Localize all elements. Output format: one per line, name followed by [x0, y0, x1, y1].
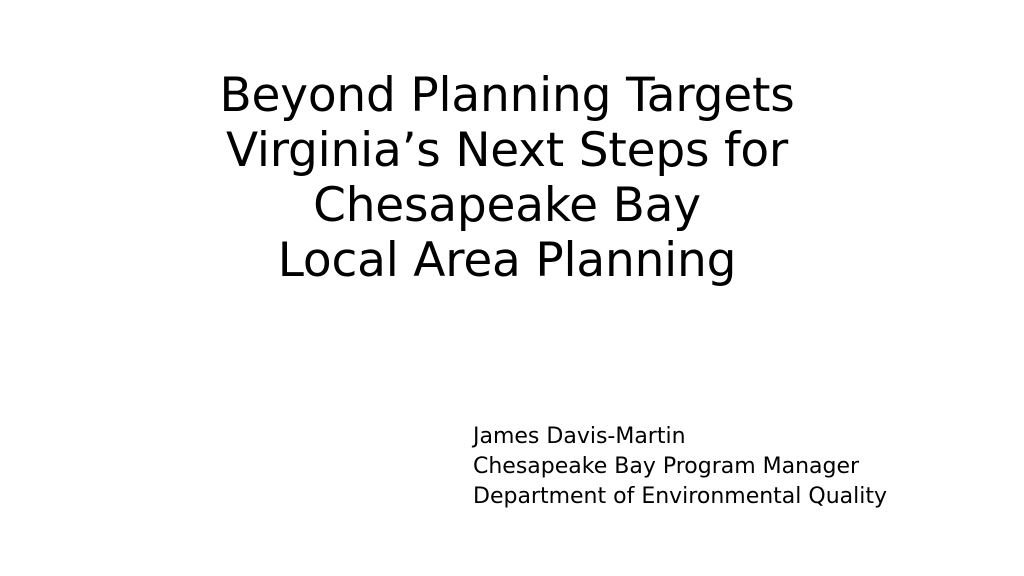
title-line-2: Virginia’s Next Steps for — [0, 123, 1014, 178]
slide-title: Beyond Planning Targets Virginia’s Next … — [0, 68, 1014, 288]
presenter-block: James Davis-Martin Chesapeake Bay Progra… — [473, 422, 887, 512]
presenter-role: Chesapeake Bay Program Manager — [473, 452, 887, 482]
title-line-4: Local Area Planning — [0, 233, 1014, 288]
presenter-organization: Department of Environmental Quality — [473, 482, 887, 512]
presenter-name: James Davis-Martin — [473, 422, 887, 452]
title-line-1: Beyond Planning Targets — [0, 68, 1014, 123]
title-line-3: Chesapeake Bay — [0, 178, 1014, 233]
title-slide: Beyond Planning Targets Virginia’s Next … — [0, 0, 1024, 576]
